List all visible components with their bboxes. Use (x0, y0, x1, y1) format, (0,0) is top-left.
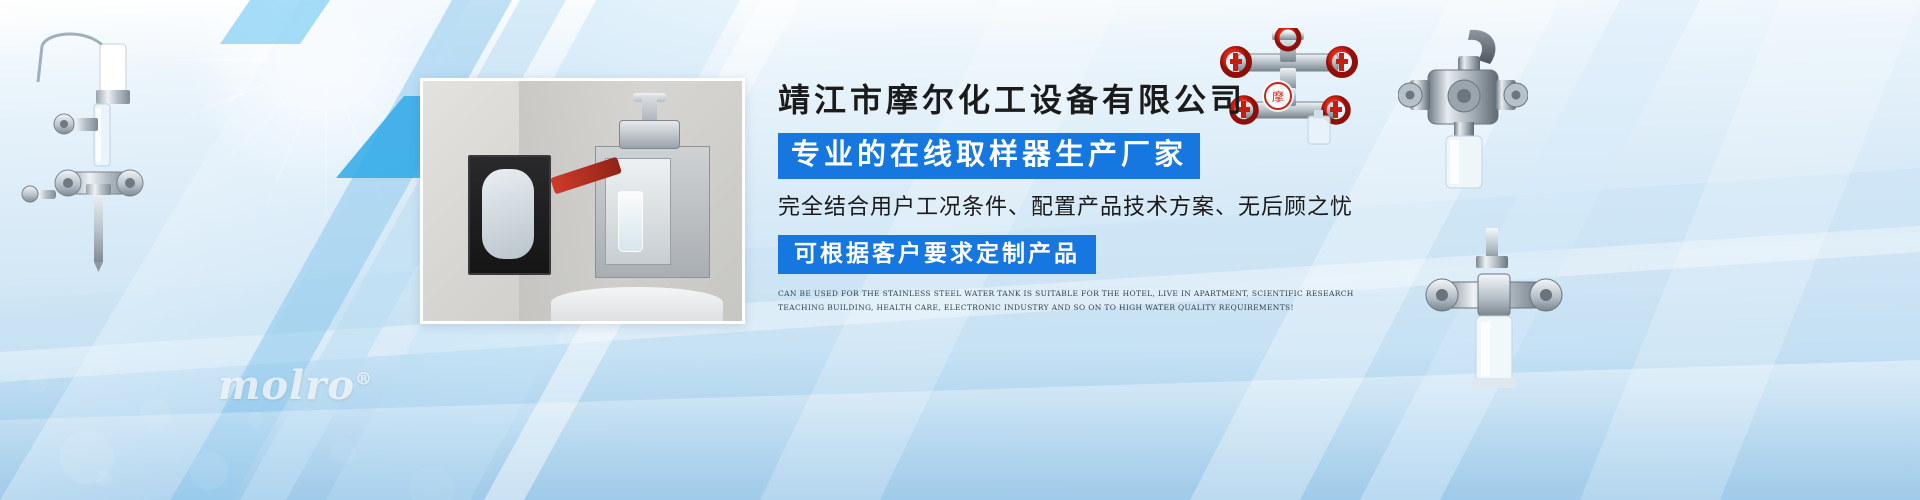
brand-watermark-text: molro (218, 362, 355, 409)
bokeh-dot (330, 438, 356, 464)
bokeh-dot (248, 412, 262, 426)
english-description: CAN BE USED FOR THE STAINLESS STEEL WATE… (778, 287, 1386, 315)
bottom-right-equipment-illustration (1420, 228, 1570, 408)
headline-text-block: 靖江市摩尔化工设备有限公司 专业的在线取样器生产厂家 完全结合用户工况条件、配置… (778, 80, 1418, 315)
bokeh-dot (28, 372, 48, 392)
registered-mark-icon: ® (355, 370, 373, 390)
promo-banner: 摩 (0, 0, 1920, 500)
secondary-slogan-badge: 可根据客户要求定制产品 (778, 235, 1096, 275)
product-photo (420, 78, 745, 324)
company-name: 靖江市摩尔化工设备有限公司 (778, 80, 1418, 120)
bokeh-dot (96, 470, 112, 486)
primary-slogan-badge: 专业的在线取样器生产厂家 (778, 133, 1200, 179)
left-equipment-illustration (8, 22, 168, 272)
bokeh-dot (190, 452, 228, 490)
bokeh-dot (140, 398, 170, 428)
sub-slogan: 完全结合用户工况条件、配置产品技术方案、无后顾之忧 (778, 193, 1418, 222)
brand-watermark: molro® (218, 362, 373, 409)
